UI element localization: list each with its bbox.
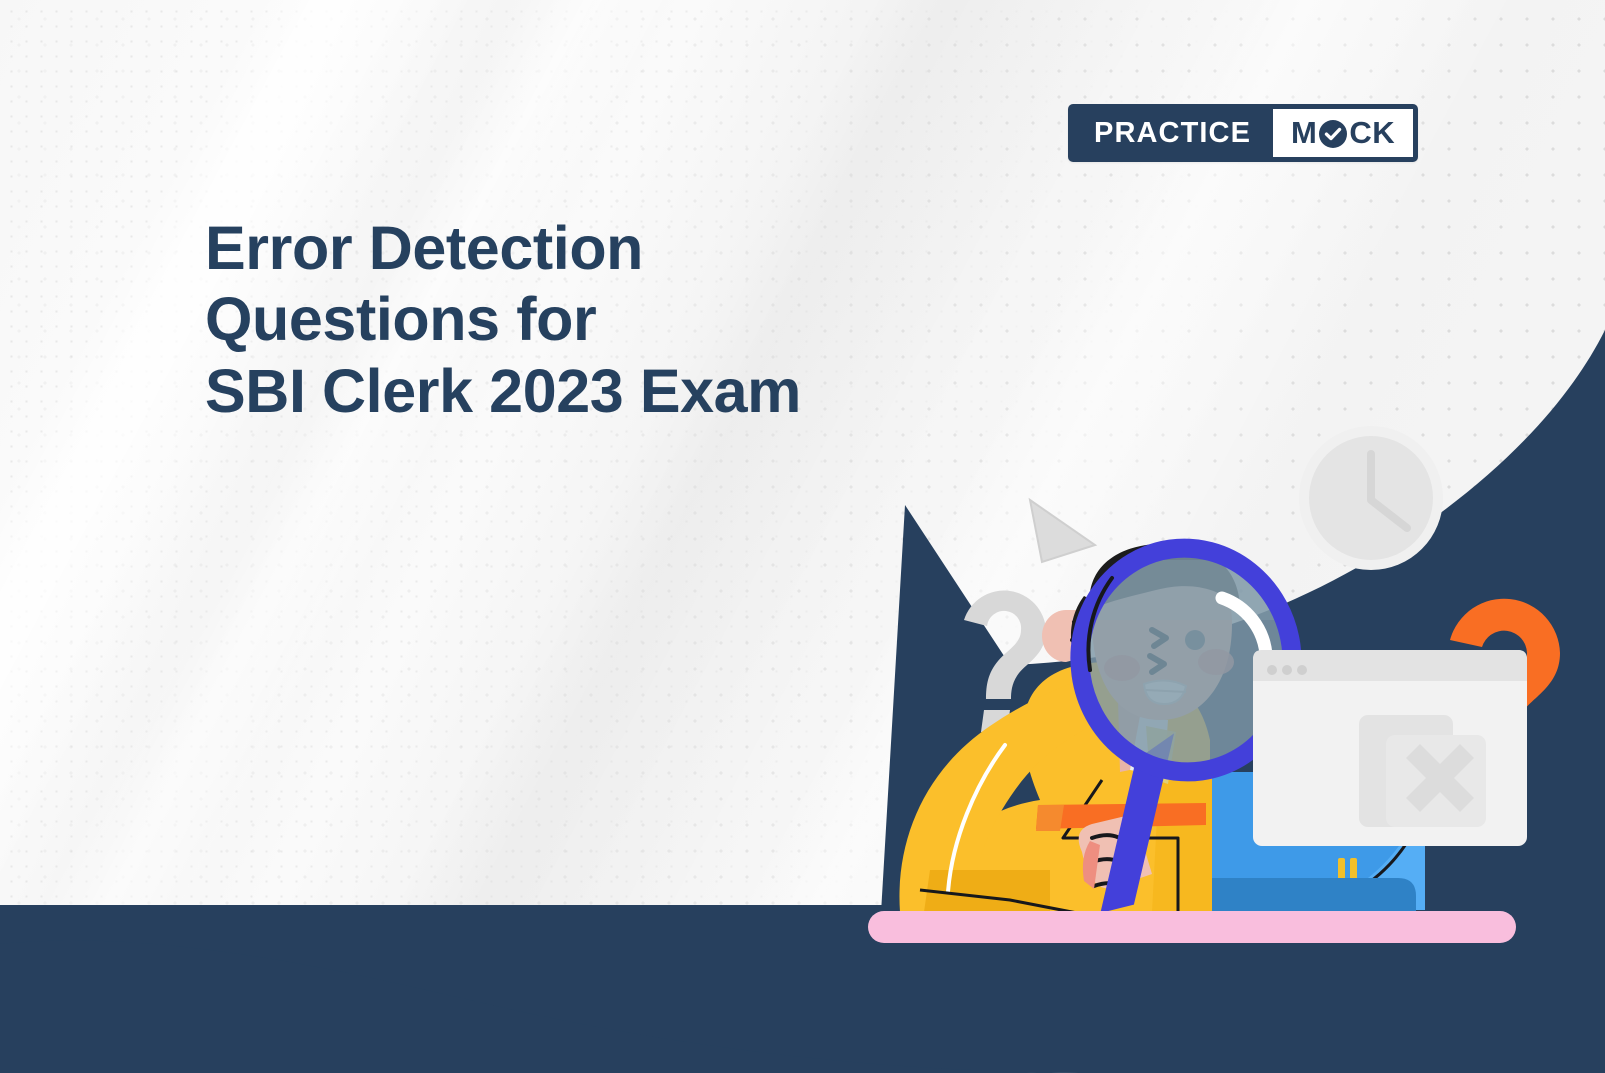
window-dot-1 — [1267, 665, 1277, 675]
logo-mock-plate: M CK — [1273, 109, 1413, 157]
window-dot-2 — [1282, 665, 1292, 675]
logo-word-mock: M CK — [1291, 115, 1395, 151]
error-window-card — [1253, 650, 1527, 846]
pink-desk-bar — [868, 911, 1516, 943]
window-dot-3 — [1297, 665, 1307, 675]
grey-triangle-shape — [1030, 500, 1095, 562]
grey-clock-icon — [1299, 426, 1443, 570]
page-title: Error Detection Questions for SBI Clerk … — [205, 213, 965, 427]
logo-mock-m: M — [1291, 115, 1317, 151]
practicemock-logo[interactable]: PRACTICE M CK — [1068, 104, 1418, 162]
logo-mock-ck: CK — [1349, 115, 1395, 151]
banner-root: Error Detection Questions for SBI Clerk … — [0, 0, 1605, 1073]
logo-word-practice: PRACTICE — [1068, 104, 1273, 162]
check-in-circle-icon — [1318, 119, 1348, 149]
